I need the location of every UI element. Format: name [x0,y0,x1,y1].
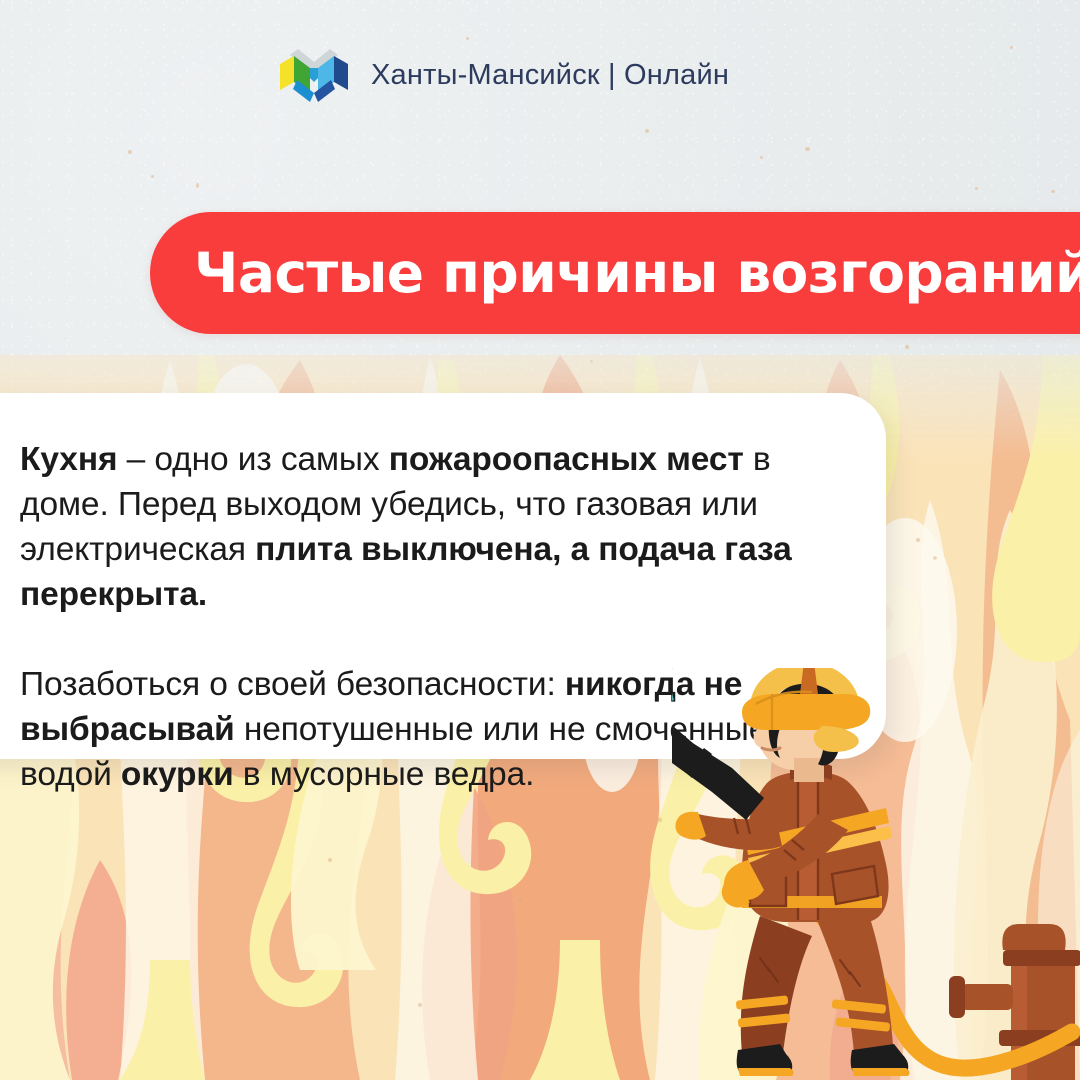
background-speck [151,175,154,178]
khanty-mansiysk-online-logo[interactable] [277,44,351,106]
background-speck [128,150,132,154]
poster-canvas: Ханты-Мансийск | Онлайн Частые причины в… [0,0,1080,1080]
background-speck [1010,46,1013,49]
background-speck [196,183,199,188]
background-speck [975,187,978,190]
background-speck [760,156,763,159]
firefighter-with-hose [672,668,1080,1080]
title-banner: Частые причины возгораний [150,212,1080,334]
brand-title: Ханты-Мансийск | Онлайн [371,59,729,92]
header: Ханты-Мансийск | Онлайн [277,44,729,106]
background-speck [1051,190,1055,193]
background-speck [805,147,810,151]
paragraph-1: Кухня – одно из самых пожароопасных мест… [20,437,828,617]
background-speck [645,129,649,133]
banner-title-text: Частые причины возгораний [194,241,1080,305]
background-speck [466,37,469,40]
